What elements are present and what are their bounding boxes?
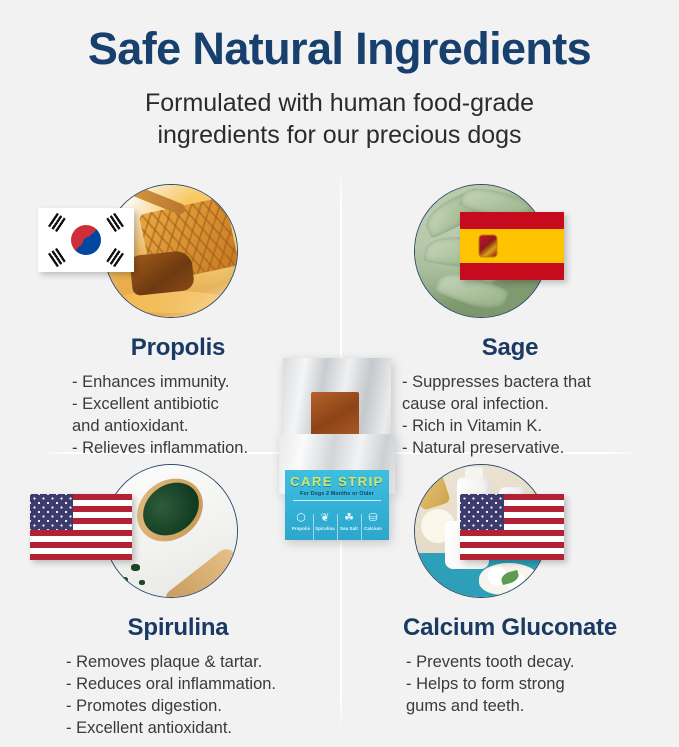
calcium-media <box>350 462 670 602</box>
ingredient-name: Calcium Gluconate <box>350 614 670 642</box>
ingredient-benefits: - Suppresses bactera that cause oral inf… <box>350 372 670 460</box>
header: Safe Natural Ingredients Formulated with… <box>0 0 679 151</box>
calcium-bottle-icon: ⛁ <box>361 511 385 525</box>
butter-shape <box>414 473 451 511</box>
package-icon-sea-salt: ☘ Sea Salt <box>337 511 361 531</box>
trigram-icon <box>48 213 66 232</box>
powder-crumb-shape <box>131 564 140 571</box>
page-subtitle: Formulated with human food-grade ingredi… <box>0 87 679 151</box>
benefit-line: - Helps to form strong <box>406 674 670 696</box>
package-icon-spirulina: ❦ Spirulina <box>313 511 337 531</box>
united-states-flag <box>30 494 132 560</box>
package-icon-row: ⬡ Propolis ❦ Spirulina ☘ Sea Salt ⛁ Calc… <box>289 504 385 538</box>
powder-crumb-shape <box>121 577 128 583</box>
flag-canton-stars <box>460 494 504 530</box>
ingredient-benefits: - Prevents tooth decay. - Helps to form … <box>350 652 670 718</box>
ingredient-card-sage: Sage - Suppresses bactera that cause ora… <box>350 182 670 460</box>
subtitle-line-2: ingredients for our precious dogs <box>0 119 679 151</box>
package-icon-label: Sea Salt <box>337 526 361 531</box>
subtitle-line-1: Formulated with human food-grade <box>0 87 679 119</box>
trigram-icon <box>106 248 124 267</box>
united-states-flag <box>460 494 564 560</box>
ingredient-name: Sage <box>350 334 670 362</box>
package-label-rule <box>293 500 381 501</box>
package-icon-calcium: ⛁ Calcium <box>361 511 385 531</box>
trigram-icon <box>48 248 66 267</box>
spirulina-leaf-icon: ❦ <box>313 511 337 525</box>
propolis-hexagon-icon: ⬡ <box>289 511 313 525</box>
spain-flag <box>460 212 564 280</box>
page-title: Safe Natural Ingredients <box>0 26 679 71</box>
propolis-media <box>18 182 338 322</box>
spirulina-powder-shape <box>133 472 210 547</box>
infographic-root: Safe Natural Ingredients Formulated with… <box>0 0 679 747</box>
powder-crumb-shape <box>139 580 145 585</box>
spain-coat-of-arms-icon <box>480 236 497 257</box>
taeguk-icon <box>71 225 101 255</box>
propolis-chunk-shape <box>129 250 195 296</box>
package-icon-label: Calcium <box>361 526 385 531</box>
ingredient-name: Spirulina <box>18 614 338 642</box>
wooden-spoon-handle-shape <box>162 545 238 598</box>
ingredient-benefits: - Removes plaque & tartar. - Reduces ora… <box>18 652 338 740</box>
benefit-line: - Suppresses bactera that <box>402 372 670 394</box>
package-icon-label: Spirulina <box>313 526 337 531</box>
package-tagline: For Dogs 2 Months or Older <box>285 491 389 497</box>
benefit-line: gums and teeth. <box>406 696 670 718</box>
ingredient-card-calcium-gluconate: Calcium Gluconate - Prevents tooth decay… <box>350 462 670 718</box>
benefit-line: - Natural preservative. <box>402 438 670 460</box>
package-strip-window <box>311 392 359 436</box>
benefit-line: cause oral infection. <box>402 394 670 416</box>
benefit-line: - Promotes digestion. <box>66 696 338 718</box>
honey-pool-shape <box>113 291 231 313</box>
sage-media <box>350 182 670 322</box>
package-icon-propolis: ⬡ Propolis <box>289 511 313 531</box>
benefit-line: - Reduces oral inflammation. <box>66 674 338 696</box>
benefit-line: - Excellent antioxidant. <box>66 718 338 740</box>
south-korea-flag <box>38 208 134 272</box>
benefit-line: - Removes plaque & tartar. <box>66 652 338 674</box>
package-brand-name: CARE STRIP <box>285 474 389 489</box>
product-package: CARE STRIP For Dogs 2 Months or Older ⬡ … <box>283 358 391 540</box>
flag-canton-stars <box>30 494 73 530</box>
benefit-line: - Prevents tooth decay. <box>406 652 670 674</box>
package-icon-label: Propolis <box>289 526 313 531</box>
package-label: CARE STRIP For Dogs 2 Months or Older ⬡ … <box>285 470 389 540</box>
sea-salt-icon: ☘ <box>337 511 361 525</box>
benefit-line: - Rich in Vitamin K. <box>402 416 670 438</box>
trigram-icon <box>106 213 124 232</box>
